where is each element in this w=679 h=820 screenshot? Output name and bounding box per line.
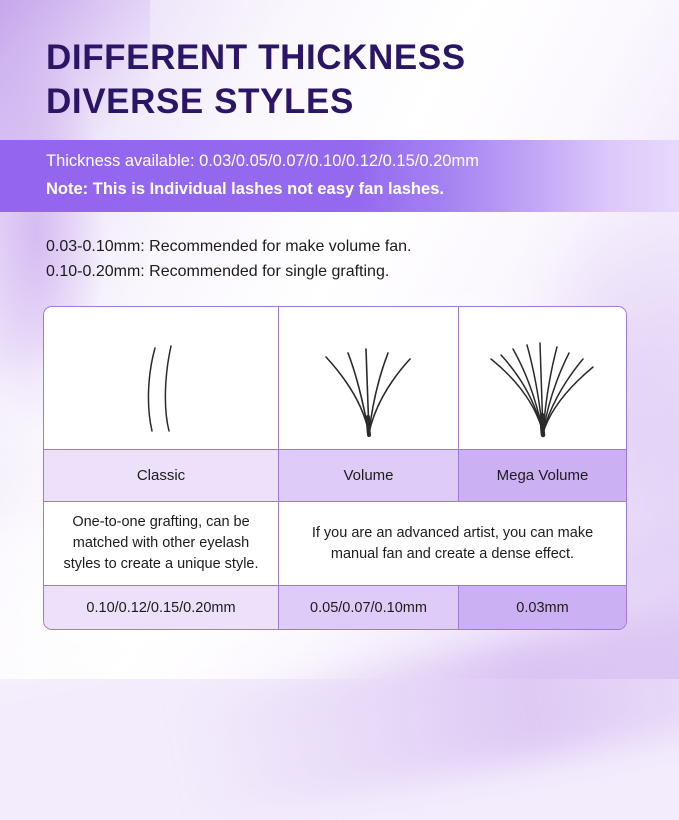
recommendation-line-1: 0.03-0.10mm: Recommended for make volume… — [46, 234, 646, 259]
illustration-cell-classic — [44, 307, 279, 449]
description-cell-volume-mega: If you are an advanced artist, you can m… — [279, 502, 626, 585]
thickness-cell-classic: 0.10/0.12/0.15/0.20mm — [44, 586, 279, 629]
illustration-cell-mega-volume — [459, 307, 626, 449]
recommendation-line-2: 0.10-0.20mm: Recommended for single graf… — [46, 259, 646, 284]
table-row-descriptions: One-to-one grafting, can be matched with… — [44, 502, 626, 586]
banner-note-text: Note: This is Individual lashes not easy… — [46, 175, 679, 203]
five-lash-fan-icon — [304, 313, 434, 443]
table-row-thickness: 0.10/0.12/0.15/0.20mm 0.05/0.07/0.10mm 0… — [44, 586, 626, 629]
description-cell-classic: One-to-one grafting, can be matched with… — [44, 502, 279, 585]
title-line-2: DIVERSE STYLES — [46, 80, 646, 124]
ten-lash-fan-icon — [473, 313, 613, 443]
table-row-illustrations — [44, 307, 626, 450]
thickness-available-text: Thickness available: 0.03/0.05/0.07/0.10… — [46, 147, 679, 175]
table-row-names: Classic Volume Mega Volume — [44, 450, 626, 502]
description-text-volume-mega: If you are an advanced artist, you can m… — [279, 523, 626, 565]
thickness-cell-volume: 0.05/0.07/0.10mm — [279, 586, 459, 629]
name-cell-classic: Classic — [44, 450, 279, 501]
product-infographic: DIFFERENT THICKNESS DIVERSE STYLES Thick… — [0, 0, 679, 679]
lash-comparison-table: Classic Volume Mega Volume One-to-one gr… — [43, 306, 627, 630]
name-cell-volume: Volume — [279, 450, 459, 501]
title-line-1: DIFFERENT THICKNESS — [46, 36, 646, 80]
name-cell-mega-volume: Mega Volume — [459, 450, 626, 501]
thickness-cell-mega-volume: 0.03mm — [459, 586, 626, 629]
recommendation-list: 0.03-0.10mm: Recommended for make volume… — [46, 234, 646, 284]
illustration-cell-volume — [279, 307, 459, 449]
thickness-banner: Thickness available: 0.03/0.05/0.07/0.10… — [0, 140, 679, 212]
description-text-classic: One-to-one grafting, can be matched with… — [44, 512, 278, 575]
page-title: DIFFERENT THICKNESS DIVERSE STYLES — [46, 36, 646, 124]
two-single-lashes-icon — [101, 313, 221, 443]
